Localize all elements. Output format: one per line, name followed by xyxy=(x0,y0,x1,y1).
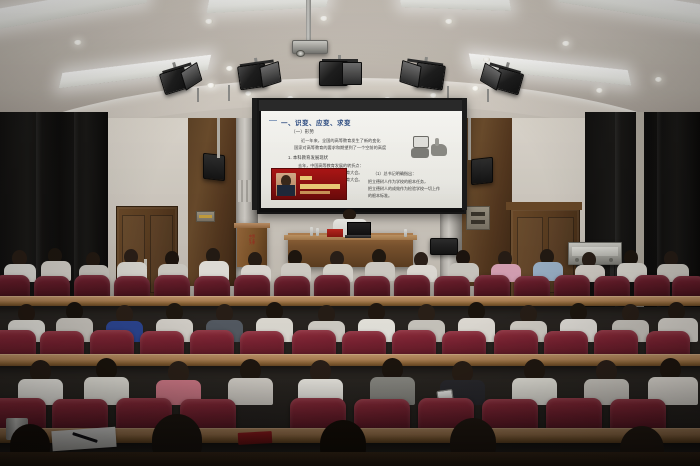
projector-mount-pole xyxy=(306,0,311,42)
wall-vent-panel-right xyxy=(466,206,490,230)
presenter-laptop-base xyxy=(345,235,371,238)
stage-spotlight xyxy=(313,55,365,95)
vent-slot xyxy=(471,220,485,224)
banner-caption-line xyxy=(300,191,330,194)
clipart-shape xyxy=(411,148,429,158)
slide-line: 国家对高等教育的要求和期望到了一个空前的高度 xyxy=(294,145,386,151)
recessed-downlight xyxy=(320,16,328,21)
banner-caption-line xyxy=(300,184,340,189)
stage-water-bottle xyxy=(316,228,319,236)
lecture-hall-photo: 一、识变、应变、求变 （一）形势 近一年来，全国的高等教育发生了新的变化 国家对… xyxy=(0,0,700,466)
slide-canvas: 一、识变、应变、求变 （一）形势 近一年来，全国的高等教育发生了新的变化 国家对… xyxy=(261,111,462,208)
projector-lens xyxy=(296,50,305,57)
ceiling-strip-light xyxy=(207,0,330,13)
ceiling-sensor-stem xyxy=(228,85,230,101)
spotlight-lens xyxy=(259,61,281,88)
slide-right-line: 的根本标准。 xyxy=(368,193,392,199)
audience-row-3 xyxy=(0,354,700,398)
vent-slot xyxy=(471,212,485,216)
lectern-top xyxy=(234,223,270,228)
slide-line: 近一年来，全国的高等教育发生了新的变化 xyxy=(301,138,381,144)
ceiling-sensor-stem xyxy=(197,88,199,102)
slide-subtitle: （一）形势 xyxy=(291,129,314,135)
slide-right-line: （1）总书记明确指出： xyxy=(373,171,416,177)
recessed-downlight xyxy=(74,40,82,45)
screen-rail-right xyxy=(462,98,467,210)
soffit-downlight xyxy=(207,83,215,88)
door-header-right xyxy=(506,202,582,210)
banner-portrait xyxy=(276,173,296,196)
recessed-downlight xyxy=(205,19,213,24)
screen-top-bar xyxy=(259,100,464,111)
slide-clipart xyxy=(411,136,449,162)
spotlight-lens xyxy=(399,60,421,88)
lectern-inscription: 中国矿业大学 xyxy=(249,235,255,246)
recessed-downlight xyxy=(655,77,662,82)
sign-slot xyxy=(199,215,212,218)
stage-water-bottle xyxy=(310,227,313,236)
clipart-shape xyxy=(435,138,439,146)
stage-water-bottle xyxy=(404,229,407,237)
slide-title: 一、识变、应变、求变 xyxy=(281,117,351,127)
screen-rail-left xyxy=(252,98,257,210)
recessed-downlight xyxy=(562,41,570,46)
wall-speaker-left xyxy=(203,153,225,181)
banner-caption-line xyxy=(300,176,312,180)
slide-banner-image xyxy=(271,168,347,200)
ceiling-strip-light xyxy=(399,0,512,11)
wall-conduit-left xyxy=(217,118,220,158)
ceiling-sensor-stem xyxy=(487,89,489,102)
audience-area xyxy=(0,246,700,466)
projection-screen: 一、识变、应变、求变 （一）形势 近一年来，全国的高等教育发生了新的变化 国家对… xyxy=(257,98,466,214)
wall-speaker-right xyxy=(471,157,493,185)
slide-line: 1. 本科教育发展现状 xyxy=(288,155,328,161)
stage-spotlight xyxy=(395,53,452,100)
desk-row-front-edge xyxy=(0,452,700,466)
clipart-shape xyxy=(413,136,429,148)
stage-spotlight xyxy=(230,55,285,102)
ceiling-strip-light xyxy=(0,0,151,34)
recessed-downlight xyxy=(445,19,453,24)
clipart-shape xyxy=(431,144,447,156)
stage-table-item-red xyxy=(327,229,343,237)
slide-right-line: 把立德树人的成效作为检验学校一切上作 xyxy=(368,186,440,192)
spotlight-lens xyxy=(342,62,362,85)
wall-sign-left xyxy=(196,211,215,222)
slide-bullet-mark xyxy=(269,120,277,121)
ceiling-strip-light xyxy=(554,0,700,31)
recessed-downlight xyxy=(596,88,603,93)
wall-conduit-right xyxy=(468,118,471,160)
slide-right-line: 把立德树人作为学校的根本任务， xyxy=(368,179,428,185)
portrait-suit xyxy=(277,185,295,196)
